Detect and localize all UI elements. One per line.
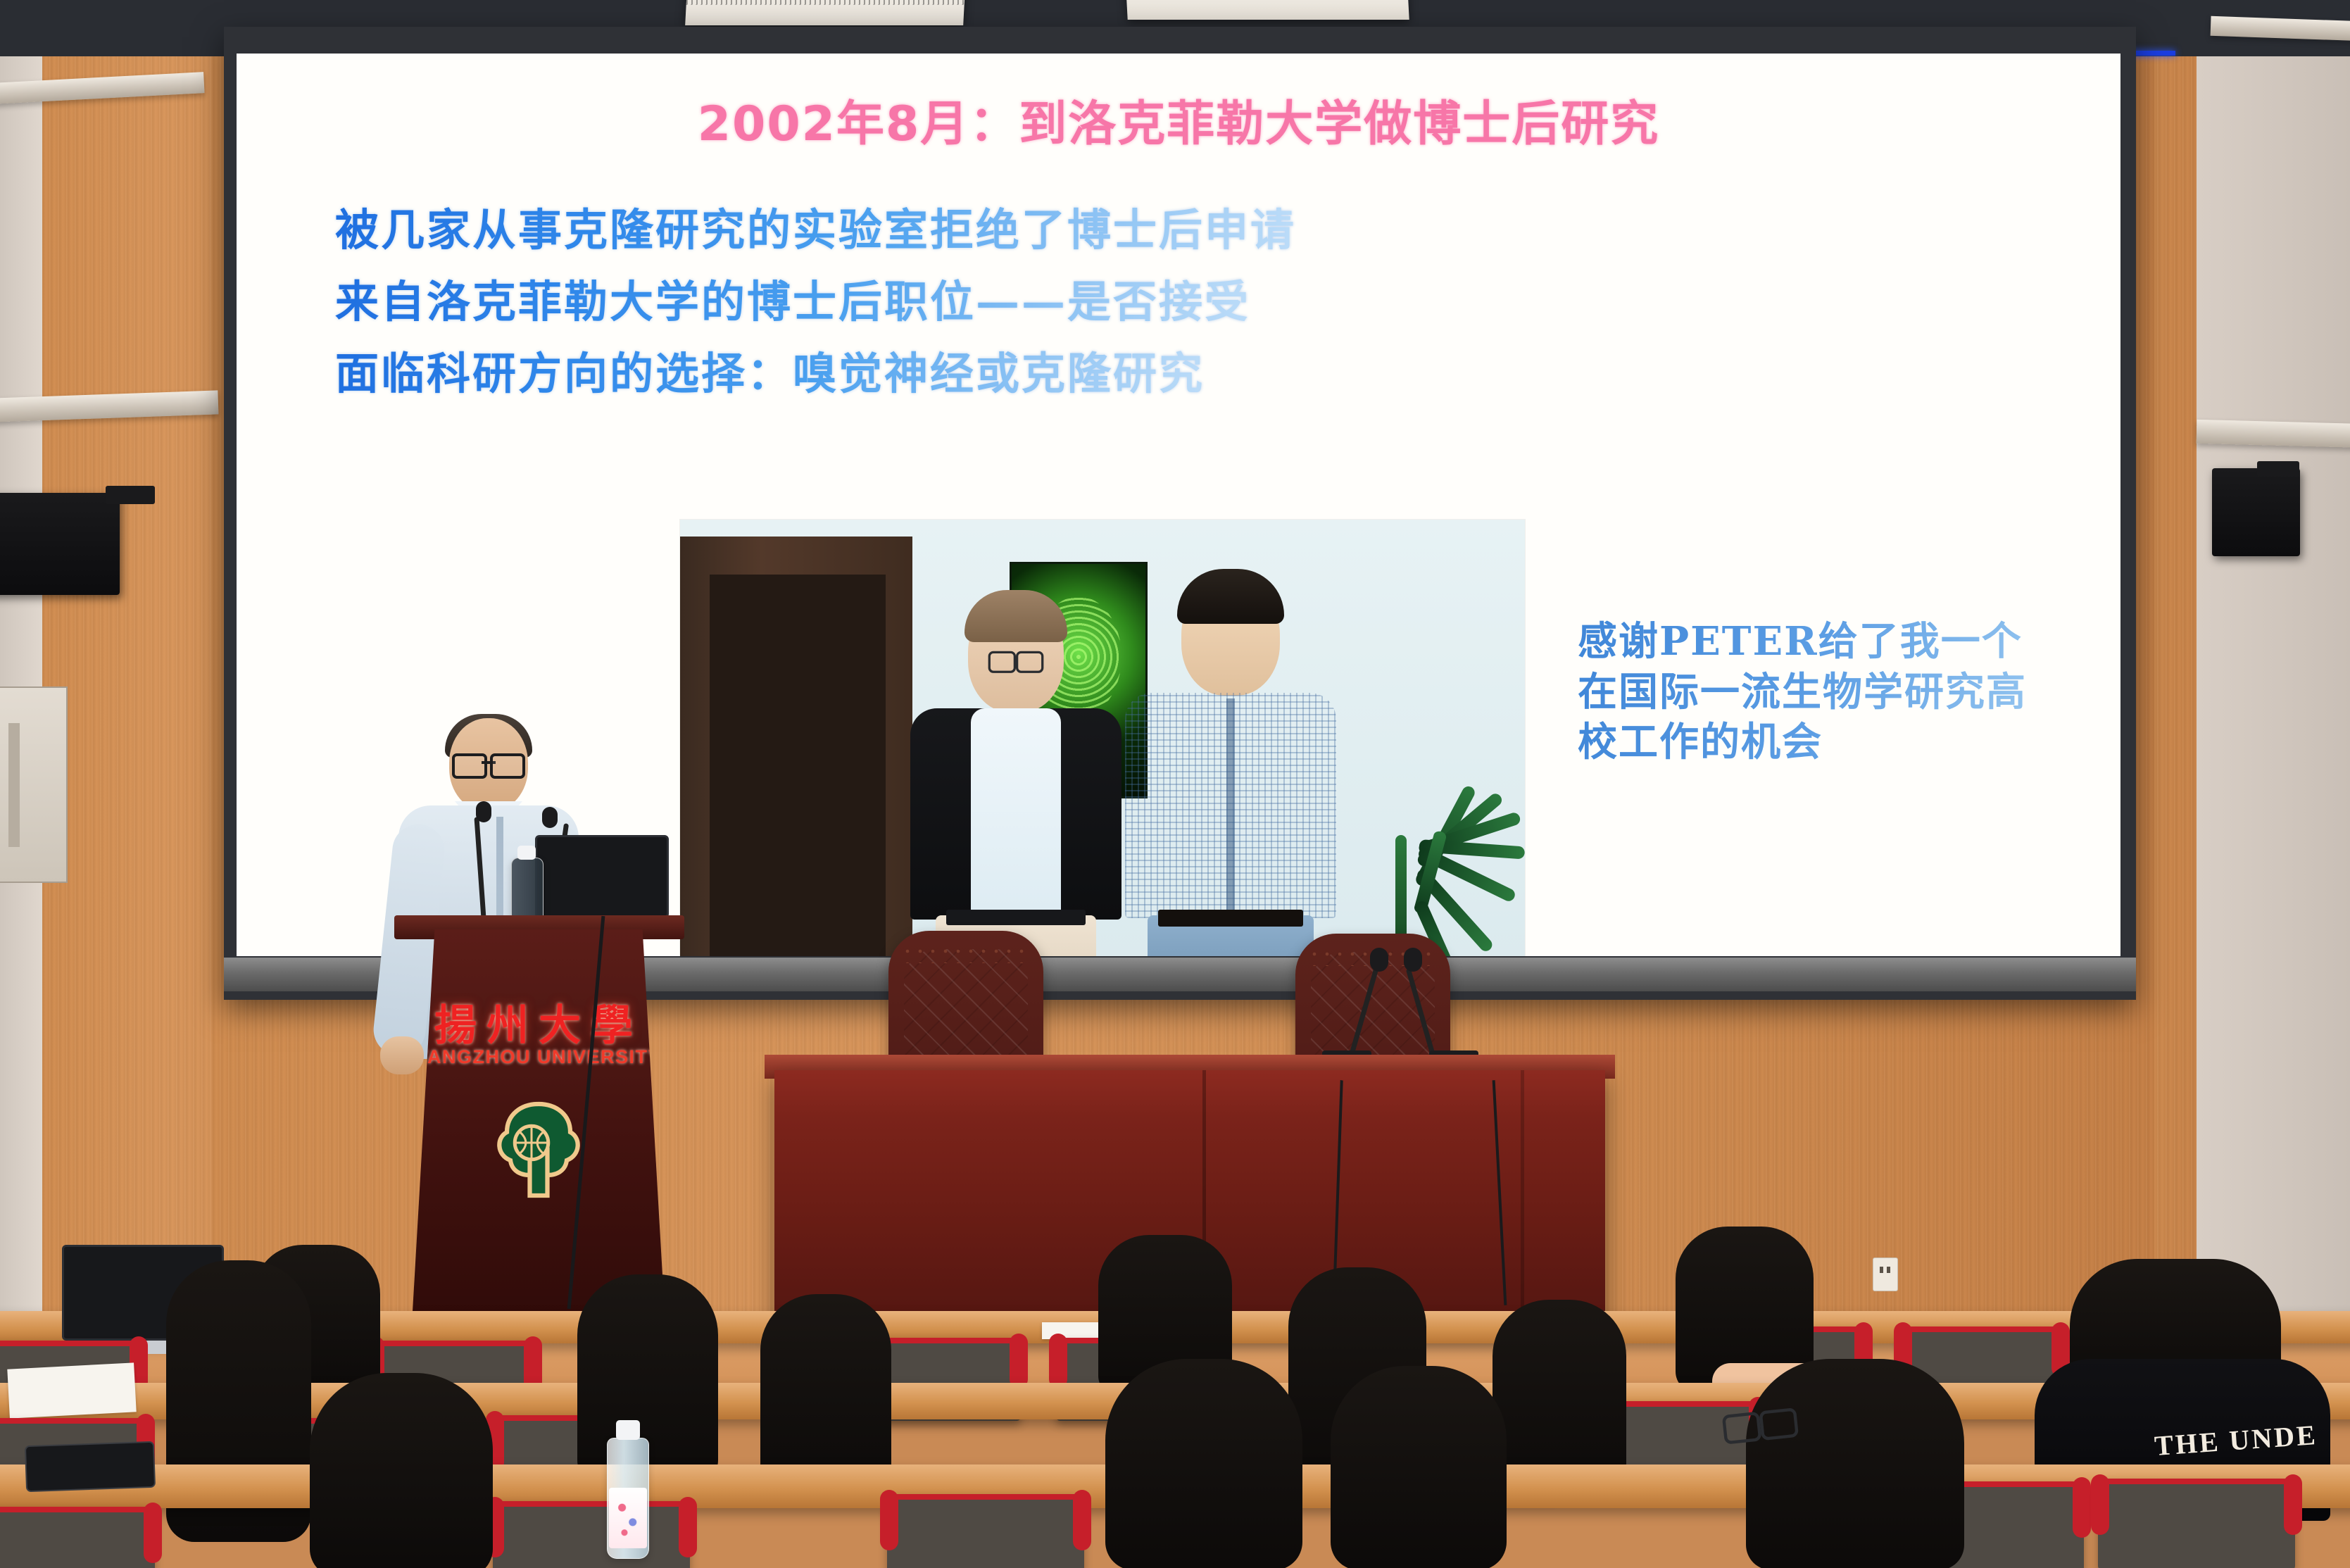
slide-body-line-1: 被几家从事克隆研究的实验室拒绝了博士后申请 <box>335 194 1296 258</box>
slide-right-note-line-1: 感谢PETER给了我一个 <box>1578 617 2120 667</box>
photo-person-right-belt <box>1158 910 1303 927</box>
seat[interactable] <box>887 1494 1084 1568</box>
audience-person <box>1493 1300 1626 1490</box>
audience-person-glasses-front <box>1746 1359 1964 1568</box>
audience-person-hair <box>760 1294 891 1491</box>
photo-person-left-belt <box>946 910 1086 925</box>
podium-bottle-cap <box>517 846 536 860</box>
podium-mic-head-1 <box>476 801 491 822</box>
photo-person-left <box>900 584 1132 956</box>
podium-laptop[interactable] <box>535 835 669 918</box>
wall-outlet-right[interactable] <box>1873 1257 1898 1291</box>
slide-body-line-2: 来自洛克菲勒大学的博士后职位——是否接受 <box>335 266 1250 330</box>
seat[interactable] <box>493 1501 690 1568</box>
lecture-hall-scene: 2002年8月：到洛克菲勒大学做博士后研究 被几家从事克隆研究的实验室拒绝了博士… <box>0 0 2350 1568</box>
audience-person-hair <box>310 1373 493 1568</box>
podium-english-name: YANGZHOU UNIVERSITY <box>412 1046 665 1068</box>
audience-person <box>760 1294 891 1491</box>
slide-right-note-line-2: 在国际一流生物学研究高 <box>1578 667 2120 718</box>
audience-person-hair <box>1746 1359 1964 1568</box>
chair-studs-left <box>901 945 1031 963</box>
audience-person <box>1331 1366 1507 1568</box>
photo-person-left-glasses <box>988 651 1044 669</box>
head-table-mic-head-right <box>1404 948 1422 972</box>
audience-bottle-cap <box>616 1420 640 1440</box>
light-grille-left <box>686 0 966 5</box>
audience-person <box>1105 1359 1302 1568</box>
podium-mic-head-2 <box>542 807 558 828</box>
side-wall-far-right <box>2197 0 2350 1338</box>
seat[interactable] <box>0 1507 155 1568</box>
wall-speaker-left <box>0 493 120 595</box>
presenter-glasses-icon <box>452 753 525 773</box>
audience-water-bottle[interactable] <box>607 1438 649 1559</box>
side-wall-far-left <box>0 0 42 1338</box>
slide-right-note-line-3: 校工作的机会 <box>1578 717 2120 768</box>
photo-person-right <box>1111 567 1350 956</box>
seat[interactable] <box>2098 1479 2295 1568</box>
slide-body-line-3: 面临科研方向的选择：嗅觉神经或克隆研究 <box>335 338 1205 401</box>
yangzhou-university-tree-icon <box>486 1097 591 1203</box>
presenter-hand-left <box>380 1036 424 1074</box>
podium[interactable]: 揚州大學 YANGZHOU UNIVERSITY <box>412 929 665 1324</box>
head-table-seam-2 <box>1521 1070 1524 1324</box>
slide-right-note: 感谢PETER给了我一个 在国际一流生物学研究高 校工作的机会 <box>1578 617 2120 768</box>
speaker-bracket-right <box>2257 461 2299 477</box>
photo-person-left-hair <box>964 590 1067 642</box>
ceiling-light-left <box>685 0 966 25</box>
audience-bottle-label <box>609 1488 647 1548</box>
wall-speaker-right <box>2212 468 2300 556</box>
podium-chinese-name: 揚州大學 <box>412 991 665 1053</box>
electrical-panel-left <box>0 686 68 883</box>
photo-person-right-placket <box>1226 698 1235 917</box>
photo-door-opening <box>710 575 886 956</box>
photo-person-left-dress-shirt <box>971 708 1061 932</box>
audience-person <box>310 1373 493 1568</box>
slide-title: 2002年8月：到洛克菲勒大学做博士后研究 <box>237 84 2120 154</box>
audience-smartphone[interactable] <box>25 1441 156 1492</box>
audience-person-hair <box>1493 1300 1626 1490</box>
audience-paper-2[interactable] <box>7 1362 136 1418</box>
podium-laptop-lid <box>535 835 669 918</box>
slide-photo <box>680 520 1525 956</box>
audience-person-hair <box>1331 1366 1507 1568</box>
speaker-bracket-left <box>106 486 155 504</box>
audience-person-hair <box>1105 1359 1302 1568</box>
head-table-mic-head-left <box>1370 948 1388 972</box>
photo-person-right-hair <box>1177 569 1284 624</box>
ceiling-light-right <box>1125 0 1409 20</box>
